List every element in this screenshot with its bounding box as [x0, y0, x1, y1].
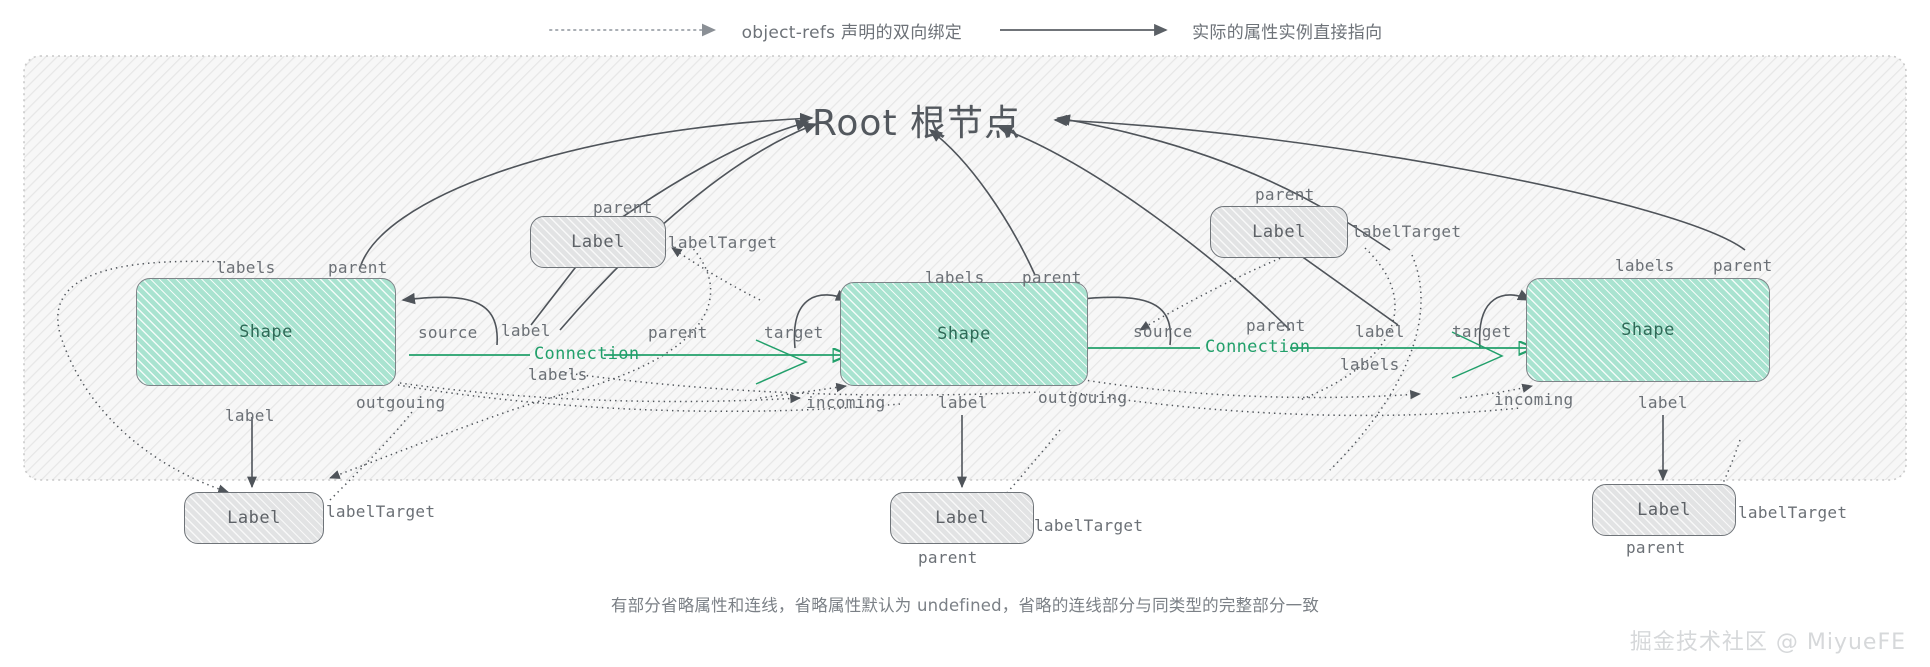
ann-label-right-conn: label — [1355, 322, 1405, 341]
ann-target-left-conn: target — [764, 323, 824, 342]
ann-label-left-bottom: label — [225, 406, 275, 425]
ann-label-left-conn: label — [501, 321, 551, 340]
ann-labels-left-shape: labels — [216, 258, 276, 277]
node-shape-middle-label: Shape — [937, 324, 991, 344]
ann-incoming-mid: incoming — [806, 393, 885, 412]
ann-outgouing-mid: outgouing — [1038, 388, 1127, 407]
ann-labeltarget-top-left: labelTarget — [668, 233, 777, 252]
ann-source-left: source — [418, 323, 478, 342]
ann-label-mid-bottom: label — [938, 393, 988, 412]
node-label-bottom-left-text: Label — [227, 508, 281, 528]
node-label-top-right-text: Label — [1252, 222, 1306, 242]
page-title: Root 根节点 — [812, 94, 1021, 146]
ann-parent-right-shape: parent — [1713, 256, 1773, 275]
node-shape-left[interactable]: Shape — [136, 278, 396, 386]
diagram-canvas: object-refs 声明的双向绑定 实际的属性实例直接指向 — [0, 0, 1930, 667]
ann-parent-label-top-left: parent — [593, 198, 653, 217]
node-label-top-right[interactable]: Label — [1210, 206, 1348, 258]
ann-parent-mid-shape: parent — [1022, 268, 1082, 287]
ann-labeltarget-bottom-right: labelTarget — [1738, 503, 1847, 522]
node-label-bottom-right-text: Label — [1637, 500, 1691, 520]
ann-parent-bottom-right: parent — [1626, 538, 1686, 557]
node-label-bottom-left[interactable]: Label — [184, 492, 324, 544]
ann-label-right-bottom: label — [1638, 393, 1688, 412]
ann-labeltarget-bottom-mid: labelTarget — [1034, 516, 1143, 535]
ann-labels-mid-shape: labels — [925, 268, 985, 287]
watermark: 掘金技术社区 @ MiyueFE — [1630, 624, 1906, 656]
ann-parent-right-conn: parent — [1246, 316, 1306, 335]
connection-label-left: Connection — [534, 344, 639, 364]
node-label-bottom-middle[interactable]: Label — [890, 492, 1034, 544]
connection-label-right: Connection — [1205, 337, 1310, 357]
ann-target-right-conn: target — [1452, 322, 1512, 341]
ann-parent-left-shape: parent — [328, 258, 388, 277]
ann-labeltarget-bottom-left: labelTarget — [326, 502, 435, 521]
ann-parent-label-top-right: parent — [1255, 185, 1315, 204]
node-shape-right-label: Shape — [1621, 320, 1675, 340]
ann-outgouing-left: outgouing — [356, 393, 445, 412]
ann-labels-right-conn: labels — [1340, 355, 1400, 374]
node-shape-right[interactable]: Shape — [1526, 278, 1770, 382]
node-shape-middle[interactable]: Shape — [840, 282, 1088, 386]
ann-source-right: source — [1133, 322, 1193, 341]
ann-labels-left-conn: labels — [528, 365, 588, 384]
node-label-bottom-right[interactable]: Label — [1592, 484, 1736, 536]
figure-caption: 有部分省略属性和连线，省略属性默认为 undefined，省略的连线部分与同类型… — [0, 592, 1930, 616]
node-label-top-left-text: Label — [571, 232, 625, 252]
ann-parent-left-conn: parent — [648, 323, 708, 342]
node-shape-left-label: Shape — [239, 322, 293, 342]
ann-labels-right-shape: labels — [1615, 256, 1675, 275]
ann-parent-bottom-mid: parent — [918, 548, 978, 567]
ann-incoming-right: incoming — [1494, 390, 1573, 409]
ann-labeltarget-top-right: labelTarget — [1352, 222, 1461, 241]
node-label-top-left[interactable]: Label — [530, 216, 666, 268]
node-label-bottom-middle-text: Label — [935, 508, 989, 528]
